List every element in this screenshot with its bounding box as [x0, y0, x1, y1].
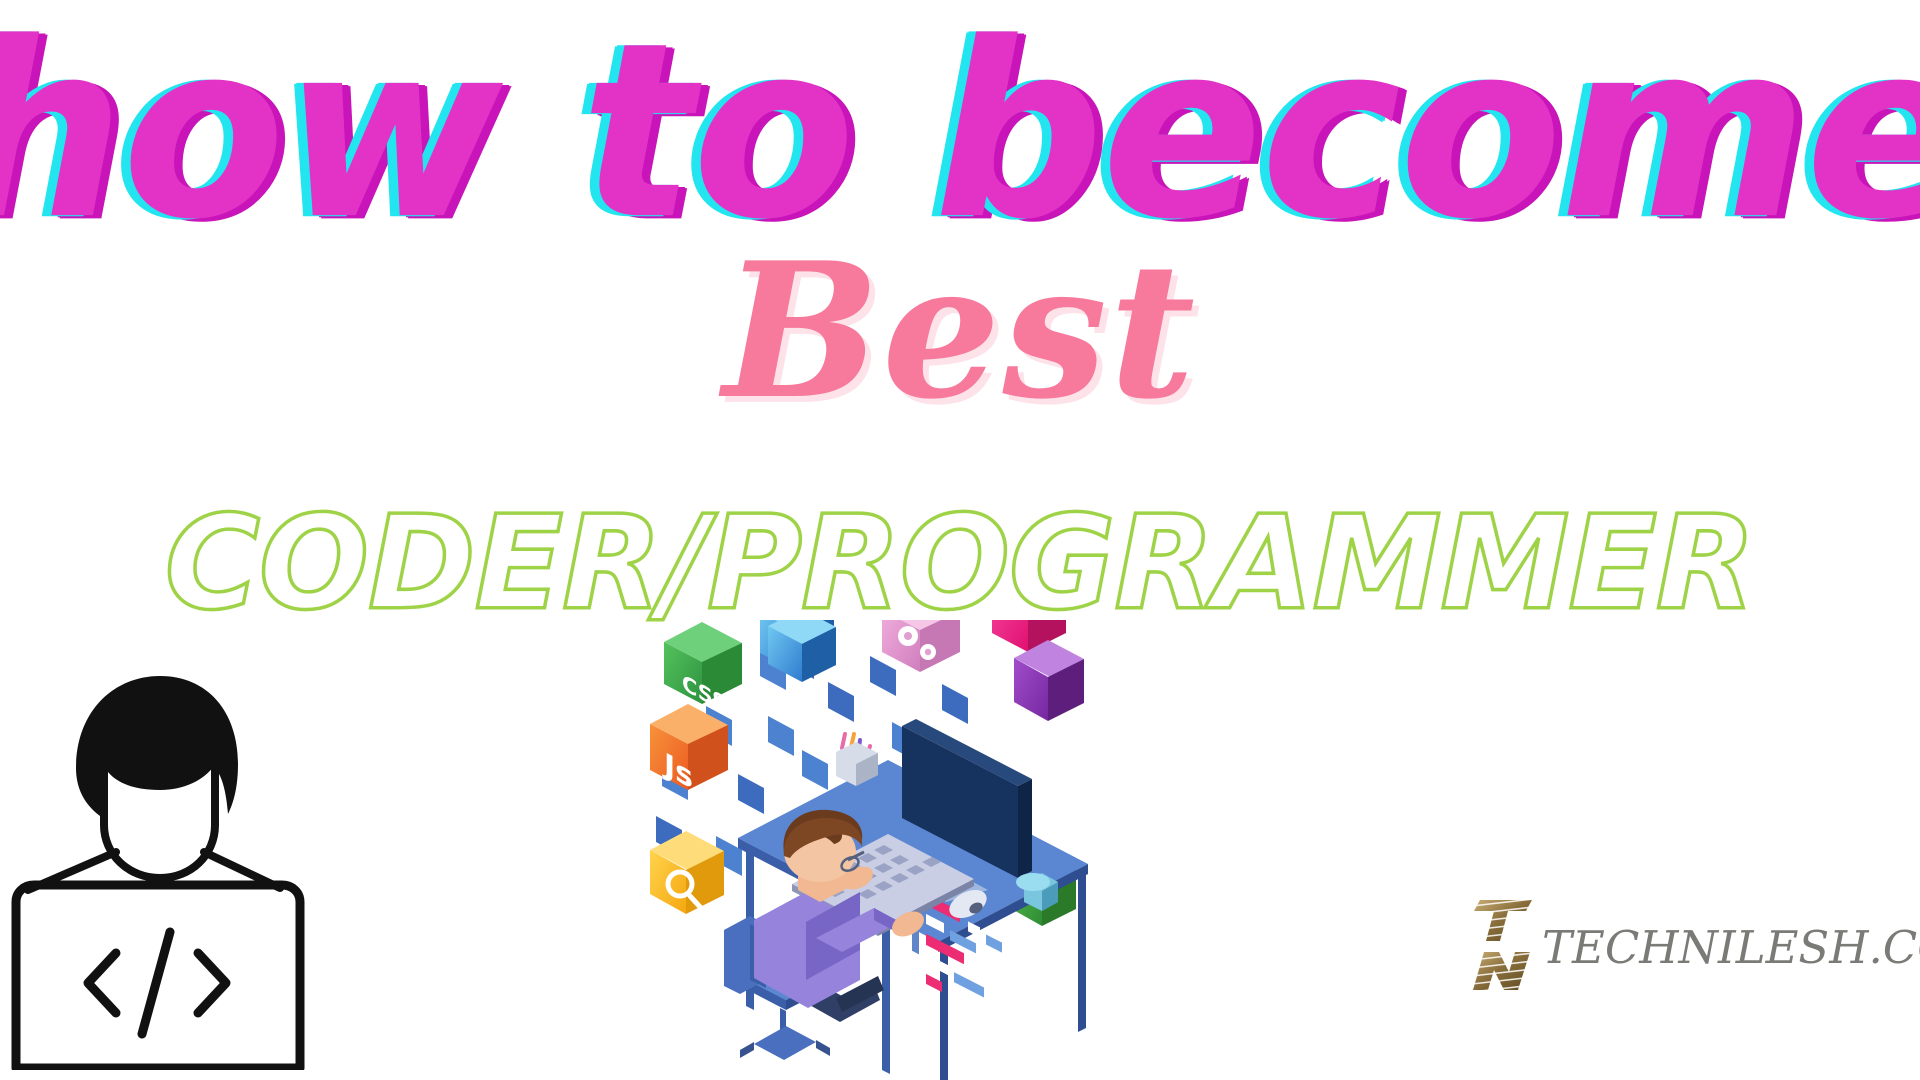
script-word: Best	[0, 238, 1920, 438]
isometric-illustration: CSS HTML	[620, 620, 1100, 1080]
badge-css: CSS	[664, 622, 742, 719]
watermark-logo-icon	[1470, 886, 1544, 994]
code-glyph-icon	[88, 932, 226, 1034]
outline-line: CODER/PROGRAMMER	[0, 498, 1920, 618]
poster-canvas: how to become Best CODER/PROGRAMMER	[0, 0, 1920, 1080]
watermark: TECHNILESH.COM	[1470, 880, 1910, 1000]
outline-line-text: CODER/PROGRAMMER	[165, 498, 1755, 628]
badge-gears	[882, 620, 960, 672]
script-word-text: Best	[723, 221, 1197, 440]
headline: how to become	[0, 10, 1920, 255]
watermark-text: TECHNILESH.COM	[1542, 921, 1920, 974]
person-with-laptop-icon	[8, 640, 308, 1070]
badge-cpp-label: C++	[1016, 986, 1067, 1037]
headline-text: how to become	[0, 18, 1920, 248]
badge-php-label: PHP	[1001, 723, 1047, 771]
